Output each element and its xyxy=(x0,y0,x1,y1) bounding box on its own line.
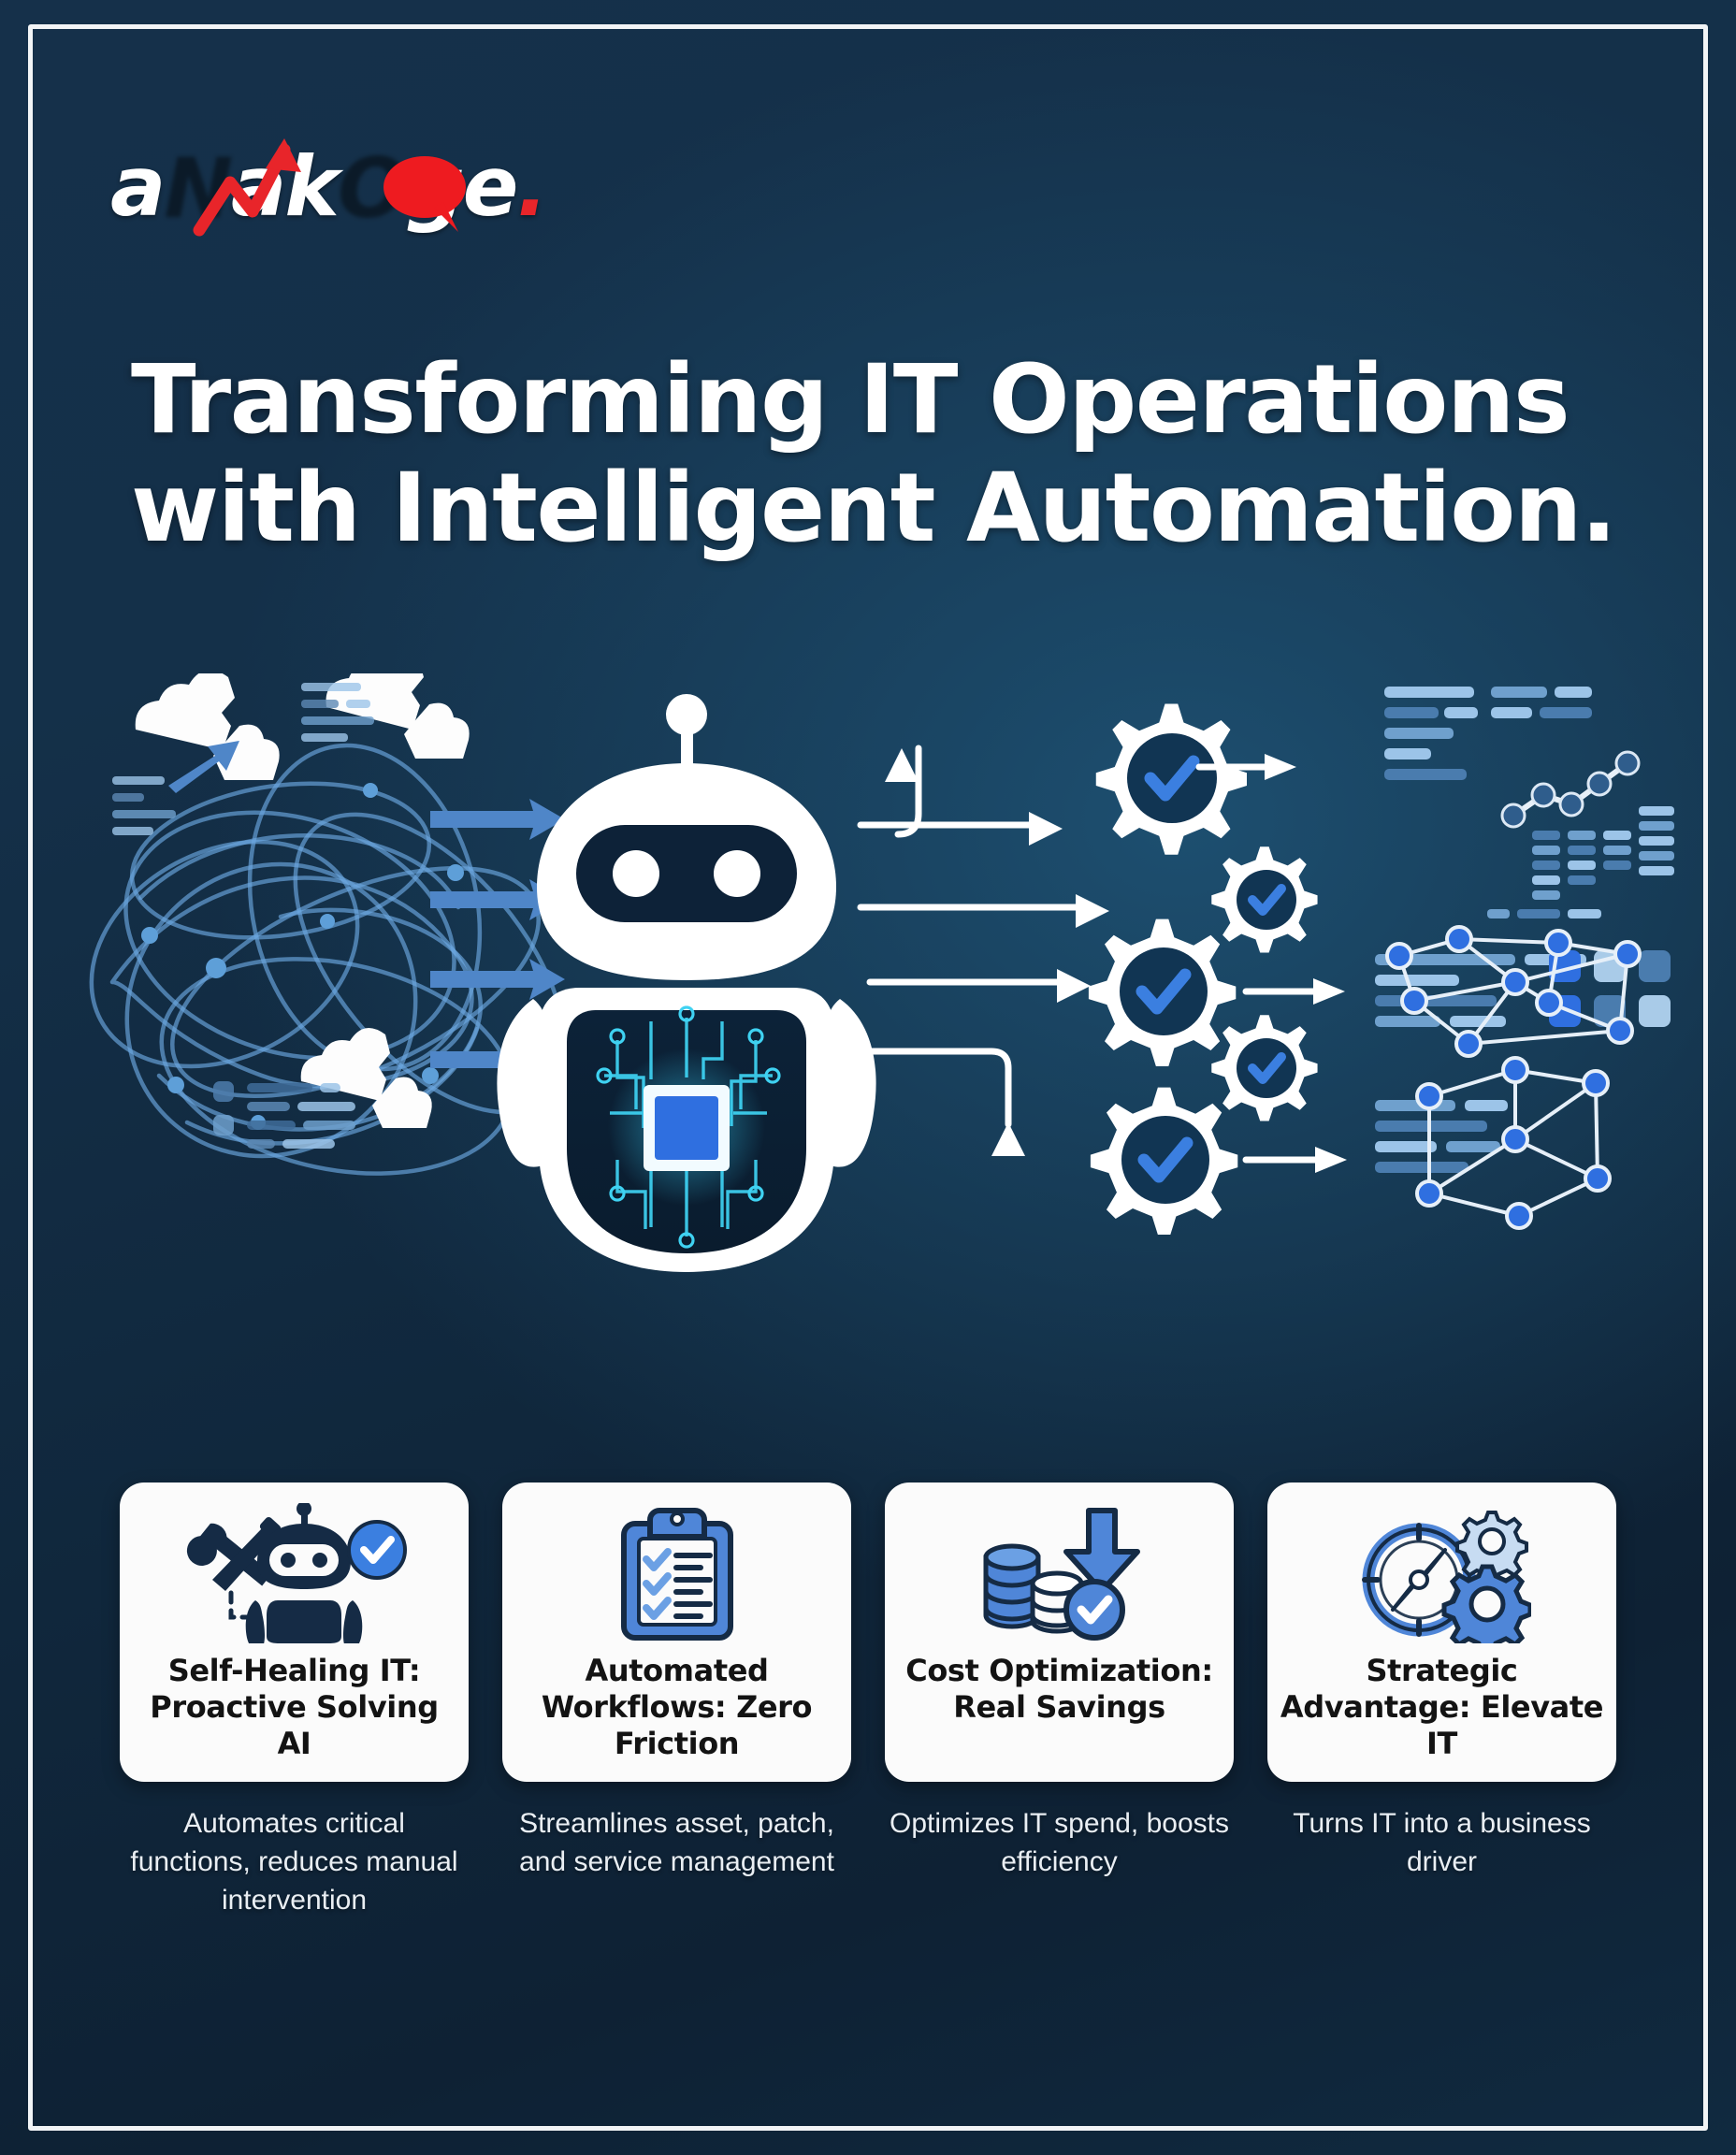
feature-card-cost-optimization[interactable]: Cost Optimization: Real Savings xyxy=(885,1482,1234,1782)
output-arrow-head xyxy=(1315,1147,1347,1173)
feature-card-list: Self-Healing IT: Proactive Solving AI xyxy=(120,1482,1616,1782)
robot-antenna-ball xyxy=(666,694,707,735)
gear-icon xyxy=(1444,1567,1530,1643)
feature-card-title: Self-Healing IT: Proactive Solving AI xyxy=(131,1653,457,1762)
dashboard-log-blocks xyxy=(1375,1100,1508,1173)
compass-with-gears-icon xyxy=(1353,1503,1531,1643)
hero-illustration xyxy=(56,673,1684,1366)
robot-eye-right xyxy=(714,850,760,897)
red-speech-bubble-icon xyxy=(383,156,466,232)
robot-eye-left xyxy=(613,850,659,897)
page-title: Transforming IT Operations with Intellig… xyxy=(131,346,1627,564)
red-arrow-head xyxy=(266,138,301,172)
poster-background: aNakOge. Transforming IT Operations with… xyxy=(0,0,1736,2155)
network-graph xyxy=(1417,1058,1610,1228)
gear-check-icon xyxy=(1091,1088,1237,1235)
output-arrow-head xyxy=(1265,754,1296,780)
robot-chip xyxy=(655,1096,718,1160)
feature-card-self-healing[interactable]: Self-Healing IT: Proactive Solving AI xyxy=(120,1482,469,1782)
trend-line-chart xyxy=(1502,752,1639,827)
page-title-line2: with Intelligent Automation. xyxy=(131,455,1627,563)
network-graph xyxy=(1387,927,1640,1056)
robot-visor xyxy=(576,825,797,922)
feature-card-automated-workflows[interactable]: Automated Workflows: Zero Friction xyxy=(502,1482,851,1782)
feature-caption: Optimizes IT spend, boosts efficiency xyxy=(885,1805,1234,1919)
coin-stacks-down-arrow-check-icon xyxy=(971,1503,1149,1643)
self-healing-robot-tools-check-icon xyxy=(182,1503,407,1643)
clipboard-checklist-icon xyxy=(607,1503,747,1643)
feature-card-title: Cost Optimization: Real Savings xyxy=(896,1653,1222,1726)
feature-caption: Streamlines asset, patch, and service ma… xyxy=(502,1805,851,1919)
gear-check-icon xyxy=(1096,704,1247,855)
feature-caption: Automates critical functions, reduces ma… xyxy=(120,1805,469,1919)
feature-card-title: Automated Workflows: Zero Friction xyxy=(514,1653,840,1762)
output-flow-lines xyxy=(861,748,1076,1124)
output-arrow-head xyxy=(1313,978,1345,1005)
dashboard-data-blocks xyxy=(1384,687,1592,780)
feature-caption-list: Automates critical functions, reduces ma… xyxy=(120,1805,1616,1919)
feature-card-strategic-advantage[interactable]: Strategic Advantage: Elevate IT xyxy=(1267,1482,1616,1782)
brand-logo: aNakOge. xyxy=(110,131,634,253)
feature-caption: Turns IT into a business driver xyxy=(1267,1805,1616,1919)
check-badge xyxy=(349,1522,405,1578)
page-title-line1: Transforming IT Operations xyxy=(131,344,1569,456)
feature-card-title: Strategic Advantage: Elevate IT xyxy=(1279,1653,1605,1762)
logo-marks xyxy=(110,131,634,253)
gear-check-icon xyxy=(1089,919,1236,1066)
gear-check-icon xyxy=(1211,1015,1317,1121)
gear-check-icon xyxy=(1211,846,1317,952)
